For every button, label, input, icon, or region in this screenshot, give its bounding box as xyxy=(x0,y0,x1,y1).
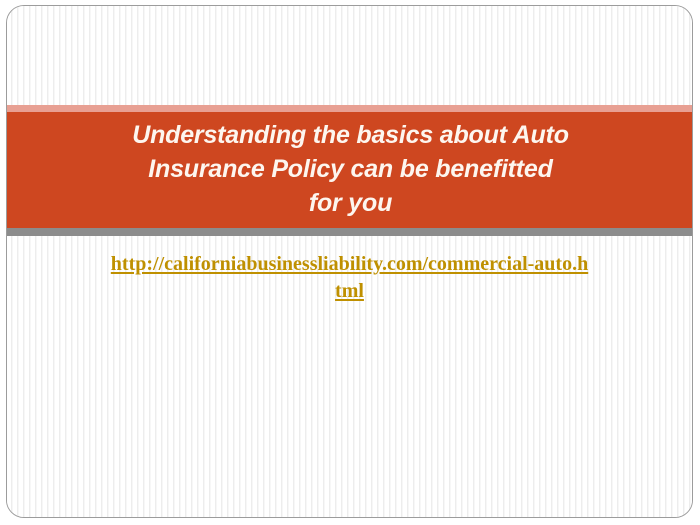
title-banner: Understanding the basics about Auto Insu… xyxy=(6,105,693,236)
banner-body: Understanding the basics about Auto Insu… xyxy=(6,112,693,228)
slide-title-line-2: Insurance Policy can be benefitted xyxy=(6,152,693,186)
slide-canvas: Understanding the basics about Auto Insu… xyxy=(6,5,693,518)
banner-bottom-accent-rule xyxy=(6,228,693,236)
slide-title-line-1: Understanding the basics about Auto xyxy=(6,118,693,152)
link-block: http://californiabusinessliability.com/c… xyxy=(7,251,692,305)
slide-title-line-3: for you xyxy=(6,186,693,220)
banner-top-accent-rule xyxy=(6,105,693,112)
website-url-link[interactable]: http://californiabusinessliability.com/c… xyxy=(110,251,590,305)
